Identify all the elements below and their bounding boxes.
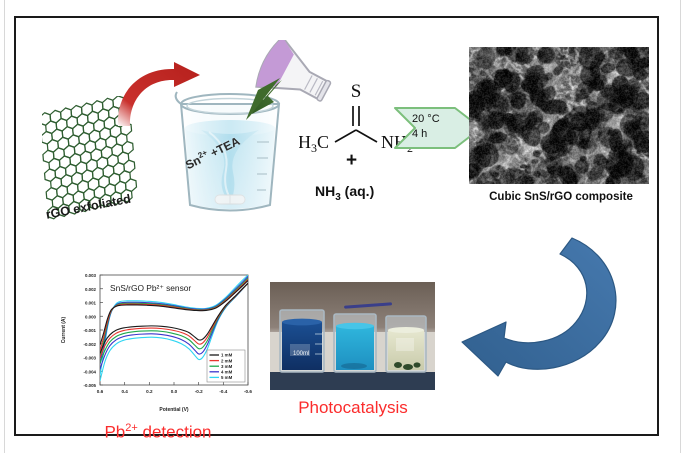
sem-micrograph — [469, 47, 649, 184]
cv-plot: 0.0030.0020.0010.000-0.001-0.002-0.003-0… — [56, 265, 254, 415]
svg-text:-0.002: -0.002 — [84, 342, 97, 347]
reaction-time: 4 h — [412, 127, 440, 142]
svg-text:0.003: 0.003 — [85, 273, 97, 278]
svg-text:100ml: 100ml — [293, 351, 309, 357]
svg-text:Current (A): Current (A) — [61, 316, 67, 343]
svg-text:-0.003: -0.003 — [84, 356, 97, 361]
svg-text:0.000: 0.000 — [85, 314, 97, 319]
svg-text:-0.005: -0.005 — [84, 383, 97, 388]
reagent-plus-sign: + — [346, 150, 357, 172]
svg-text:0.0: 0.0 — [171, 389, 178, 394]
svg-text:-0.001: -0.001 — [84, 328, 97, 333]
reaction-conditions-text: 20 °C 4 h — [412, 112, 440, 142]
flask-pour-arrow-icon — [228, 76, 288, 122]
svg-text:-0.2: -0.2 — [195, 389, 203, 394]
cycle-arrow-icon — [454, 230, 634, 382]
page-rule-right — [680, 0, 681, 453]
photocatalysis-photo: 100ml — [270, 282, 435, 390]
svg-text:0.2: 0.2 — [146, 389, 153, 394]
svg-text:0.4: 0.4 — [121, 389, 128, 394]
svg-text:-0.004: -0.004 — [84, 369, 97, 374]
ammonia-label: NH3 (aq.) — [315, 183, 374, 203]
sem-caption: Cubic SnS/rGO composite — [461, 191, 661, 203]
svg-text:Potential (V): Potential (V) — [159, 407, 189, 413]
svg-text:-0.6: -0.6 — [244, 389, 252, 394]
svg-text:SnS/rGO Pb²⁺ sensor: SnS/rGO Pb²⁺ sensor — [110, 283, 191, 293]
reaction-temperature: 20 °C — [412, 112, 440, 127]
svg-text:S: S — [351, 81, 362, 102]
photocatalysis-label: Photocatalysis — [260, 398, 446, 418]
svg-text:2 mM: 2 mM — [221, 358, 233, 363]
svg-text:5 mM: 5 mM — [221, 375, 233, 380]
svg-text:0.002: 0.002 — [85, 287, 97, 292]
svg-text:0.001: 0.001 — [85, 301, 97, 306]
figure-frame: rGO exfoliated — [14, 16, 659, 436]
svg-text:H3C: H3C — [299, 132, 329, 155]
svg-text:1 mM: 1 mM — [221, 353, 233, 358]
pb-detection-label: Pb2+ detection — [68, 422, 248, 443]
page-rule-left — [4, 0, 5, 453]
graphical-abstract-page: rGO exfoliated — [0, 0, 685, 453]
svg-text:4 mM: 4 mM — [221, 370, 233, 375]
svg-text:-0.4: -0.4 — [219, 389, 227, 394]
svg-text:0.6: 0.6 — [97, 389, 104, 394]
svg-text:3 mM: 3 mM — [221, 364, 233, 369]
